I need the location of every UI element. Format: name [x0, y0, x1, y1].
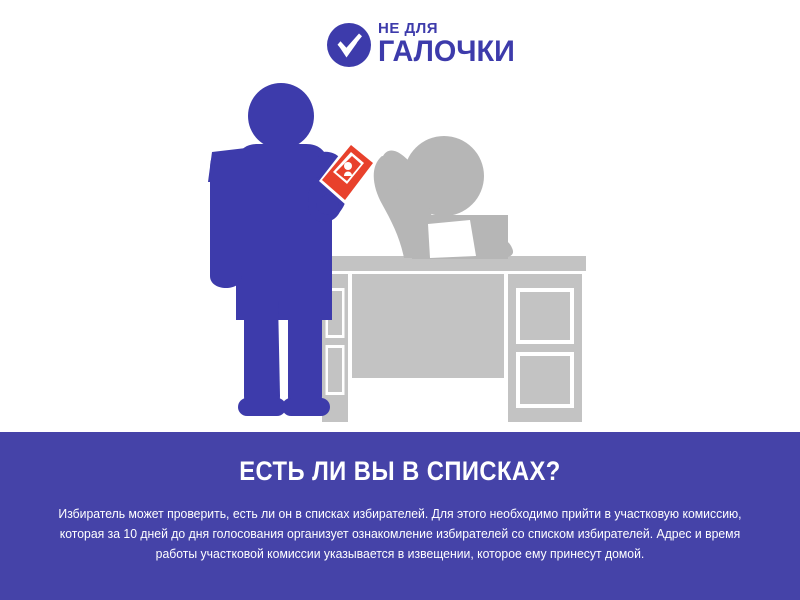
- banner-body-line: которая за 10 дней до дня голосования ор…: [41, 524, 759, 544]
- banner-body-line: Избиратель может проверить, есть ли он в…: [41, 504, 759, 524]
- illustration: [0, 0, 800, 432]
- office-desk: [320, 256, 586, 422]
- banner-title: ЕСТЬ ЛИ ВЫ В СПИСКАХ?: [48, 456, 752, 487]
- banner-body-line: работы участковой комиссии указывается в…: [41, 544, 759, 564]
- poster-root: НЕ ДЛЯ ГАЛОЧКИ: [0, 0, 800, 600]
- info-banner: ЕСТЬ ЛИ ВЫ В СПИСКАХ? Избиратель может п…: [0, 432, 800, 600]
- paper-sheet: [428, 220, 476, 258]
- banner-body: Избиратель может проверить, есть ли он в…: [30, 504, 770, 564]
